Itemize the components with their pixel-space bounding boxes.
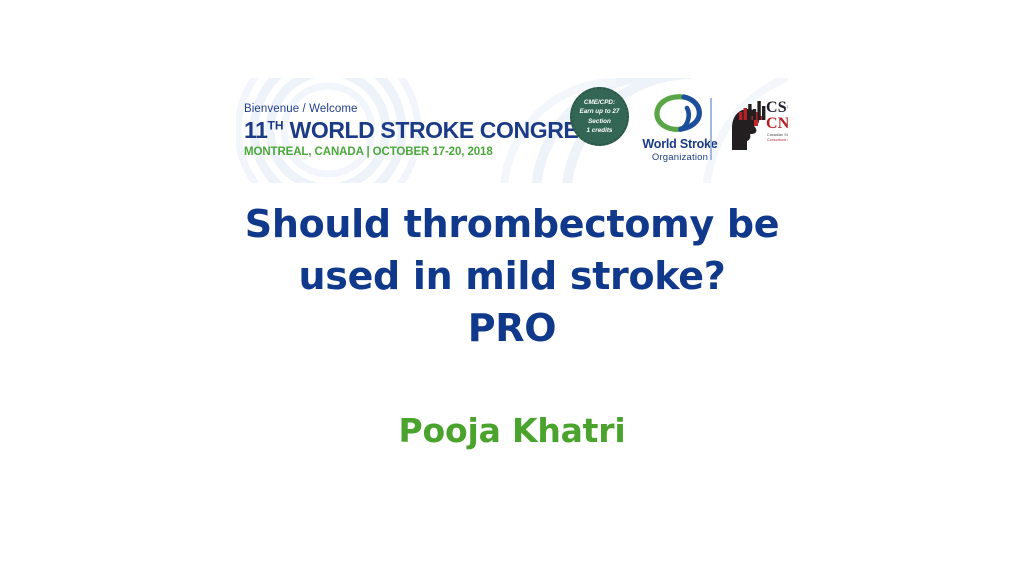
wso-name: World Stroke xyxy=(625,137,735,151)
csc-subtitle-fr: Consortium Neurovasculaire Canadien xyxy=(767,138,788,142)
cme-line-4: 1 credits xyxy=(580,126,620,135)
banner-location-date: MONTREAL, CANADA | OCTOBER 17-20, 2018 xyxy=(244,147,608,159)
slide-title-line-3: PRO xyxy=(112,302,912,354)
banner-congress-ordinal: TH xyxy=(268,118,284,132)
banner-congress-name: WORLD STROKE CONGRESS xyxy=(290,117,609,143)
wso-swoosh-icon xyxy=(654,92,706,136)
slide-title: Should thrombectomy be used in mild stro… xyxy=(112,198,912,354)
congress-banner: Bienvenue / Welcome 11TH WORLD STROKE CO… xyxy=(236,78,788,183)
presenter-name: Pooja Khatri xyxy=(112,409,912,453)
slide-title-line-1: Should thrombectomy be xyxy=(112,198,912,250)
banner-welcome-text: Bienvenue / Welcome xyxy=(244,104,608,116)
csc-bar-chart-icon xyxy=(739,100,767,120)
csc-cnc-logo: CSC CNC Canadian Stroke Consortium Conso… xyxy=(730,100,788,155)
cme-line-2: Earn up to 27 xyxy=(580,107,620,116)
cme-credits-badge: CME/CPD: Earn up to 27 Section 1 credits xyxy=(570,87,629,146)
cme-line-1: CME/CPD: xyxy=(580,98,620,107)
cme-line-3: Section xyxy=(580,117,620,126)
wso-subtitle: Organization xyxy=(625,152,735,163)
banner-wordmark: Bienvenue / Welcome 11TH WORLD STROKE CO… xyxy=(244,104,608,158)
csc-subtitle-en: Canadian Stroke Consortium xyxy=(767,133,788,137)
logo-divider xyxy=(710,98,712,160)
csc-acronym-fr: CNC xyxy=(766,115,788,133)
world-stroke-organization-logo: World Stroke Organization xyxy=(625,92,735,170)
slide-canvas: Bienvenue / Welcome 11TH WORLD STROKE CO… xyxy=(0,0,1024,576)
banner-congress-title: 11TH WORLD STROKE CONGRESS xyxy=(244,119,608,142)
banner-congress-number: 11 xyxy=(244,117,268,143)
cme-credits-text: CME/CPD: Earn up to 27 Section 1 credits xyxy=(580,98,620,135)
slide-title-line-2: used in mild stroke? xyxy=(112,250,912,302)
